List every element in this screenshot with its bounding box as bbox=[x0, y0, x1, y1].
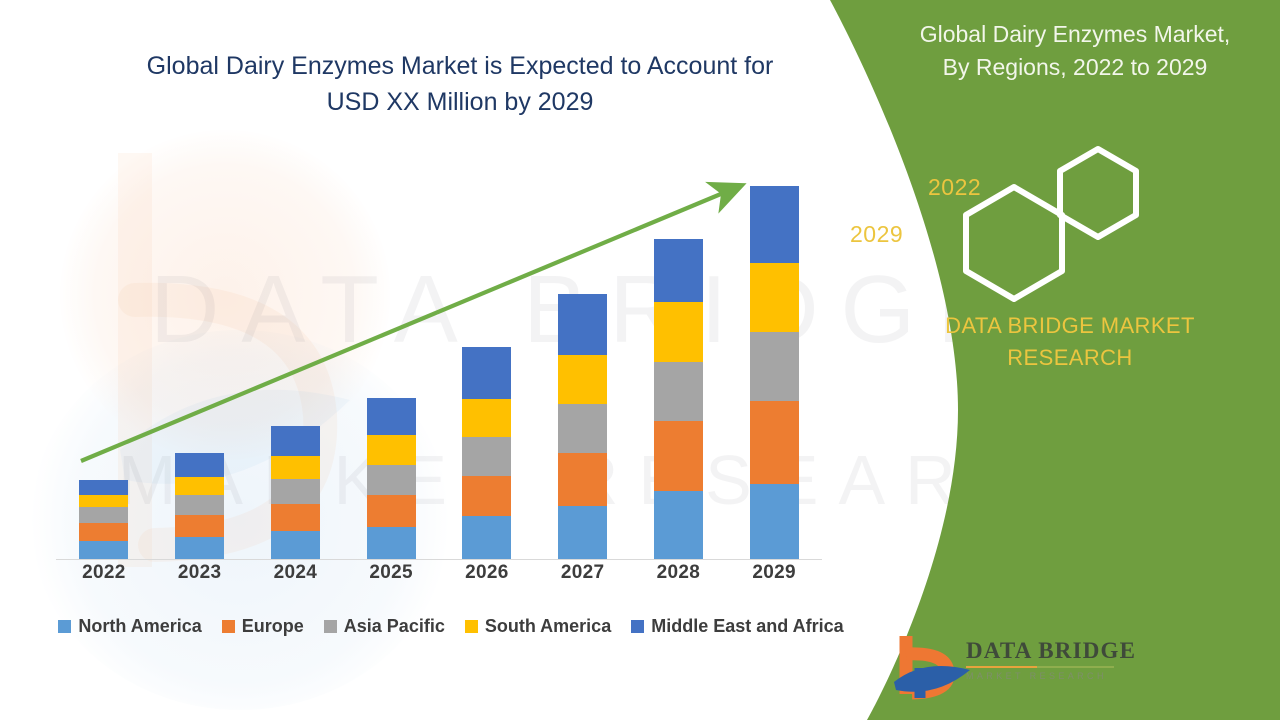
stacked-bars bbox=[56, 160, 822, 559]
stacked-bar-2022[interactable] bbox=[79, 480, 128, 559]
bar-segment[interactable] bbox=[750, 401, 799, 484]
bar-segment[interactable] bbox=[558, 404, 607, 453]
legend-swatch-icon bbox=[58, 620, 71, 633]
x-axis-tick-2027: 2027 bbox=[535, 562, 631, 584]
bar-segment[interactable] bbox=[79, 523, 128, 541]
stacked-bar-2026[interactable] bbox=[462, 347, 511, 559]
bar-segment[interactable] bbox=[367, 527, 416, 559]
bar-segment[interactable] bbox=[462, 516, 511, 559]
stacked-bar-2024[interactable] bbox=[271, 426, 320, 559]
bar-segment[interactable] bbox=[558, 453, 607, 506]
hexagon-badges bbox=[940, 145, 1170, 305]
bar-segment[interactable] bbox=[750, 263, 799, 332]
bar-segment[interactable] bbox=[175, 453, 224, 477]
bar-segment[interactable] bbox=[271, 456, 320, 479]
bar-segment[interactable] bbox=[750, 332, 799, 402]
bar-segment[interactable] bbox=[462, 399, 511, 437]
legend-item[interactable]: Middle East and Africa bbox=[631, 616, 843, 637]
bar-segment[interactable] bbox=[654, 491, 703, 559]
logo-text-block: DATA BRIDGE MARKET RESEARCH bbox=[966, 638, 1116, 681]
legend-label: South America bbox=[485, 616, 611, 637]
bar-segment[interactable] bbox=[79, 495, 128, 507]
chart-title: Global Dairy Enzymes Market is Expected … bbox=[90, 48, 830, 120]
legend-swatch-icon bbox=[465, 620, 478, 633]
bar-segment[interactable] bbox=[367, 495, 416, 527]
brand-name: DATA BRIDGE MARKET RESEARCH bbox=[830, 310, 1280, 374]
bar-segment[interactable] bbox=[558, 355, 607, 405]
panel-title-line-1: Global Dairy Enzymes Market, bbox=[870, 18, 1280, 51]
hex-year-2022-label: 2022 bbox=[928, 174, 981, 201]
bar-group bbox=[56, 160, 152, 559]
bar-group bbox=[439, 160, 535, 559]
hexagon-outline-icons bbox=[940, 145, 1170, 305]
infographic-canvas: DATA BRIDGE MARKET RESEARCH Global Dairy… bbox=[0, 0, 1280, 720]
bar-group bbox=[631, 160, 727, 559]
bar-segment[interactable] bbox=[271, 426, 320, 456]
x-axis-labels: 20222023202420252026202720282029 bbox=[56, 562, 822, 584]
bar-segment[interactable] bbox=[654, 302, 703, 362]
stacked-bar-2027[interactable] bbox=[558, 294, 607, 559]
bar-segment[interactable] bbox=[462, 476, 511, 516]
legend-label: Asia Pacific bbox=[344, 616, 445, 637]
bar-segment[interactable] bbox=[750, 186, 799, 263]
legend-swatch-icon bbox=[222, 620, 235, 633]
stacked-bar-2025[interactable] bbox=[367, 398, 416, 559]
x-axis-tick-2025: 2025 bbox=[343, 562, 439, 584]
bar-segment[interactable] bbox=[558, 506, 607, 559]
bar-segment[interactable] bbox=[462, 347, 511, 400]
bar-group bbox=[726, 160, 822, 559]
x-axis-tick-2028: 2028 bbox=[631, 562, 727, 584]
bar-segment[interactable] bbox=[79, 480, 128, 495]
bar-segment[interactable] bbox=[271, 504, 320, 531]
bar-segment[interactable] bbox=[654, 239, 703, 302]
bar-group bbox=[152, 160, 248, 559]
bar-segment[interactable] bbox=[558, 294, 607, 355]
legend-swatch-icon bbox=[324, 620, 337, 633]
bar-segment[interactable] bbox=[654, 362, 703, 422]
stacked-bar-2023[interactable] bbox=[175, 453, 224, 559]
chart-legend: North AmericaEuropeAsia PacificSouth Ame… bbox=[56, 616, 846, 637]
legend-swatch-icon bbox=[631, 620, 644, 633]
bar-segment[interactable] bbox=[654, 421, 703, 491]
x-axis-tick-2022: 2022 bbox=[56, 562, 152, 584]
x-axis-line bbox=[56, 559, 822, 560]
bar-segment[interactable] bbox=[367, 465, 416, 495]
hex-year-2029-label: 2029 bbox=[850, 221, 903, 248]
bar-group bbox=[343, 160, 439, 559]
bar-segment[interactable] bbox=[175, 495, 224, 515]
panel-title-line-2: By Regions, 2022 to 2029 bbox=[870, 51, 1280, 84]
legend-item[interactable]: Asia Pacific bbox=[324, 616, 445, 637]
stacked-bar-2029[interactable] bbox=[750, 186, 799, 559]
right-green-panel: Global Dairy Enzymes Market, By Regions,… bbox=[830, 0, 1280, 720]
bar-segment[interactable] bbox=[271, 479, 320, 504]
legend-item[interactable]: Europe bbox=[222, 616, 304, 637]
bar-segment[interactable] bbox=[271, 531, 320, 559]
bar-segment[interactable] bbox=[175, 515, 224, 537]
bar-segment[interactable] bbox=[462, 437, 511, 476]
legend-label: North America bbox=[78, 616, 201, 637]
bar-segment[interactable] bbox=[175, 477, 224, 495]
bar-segment[interactable] bbox=[79, 541, 128, 559]
x-axis-tick-2029: 2029 bbox=[726, 562, 822, 584]
bar-segment[interactable] bbox=[367, 398, 416, 435]
x-axis-tick-2026: 2026 bbox=[439, 562, 535, 584]
chart-title-line-2: USD XX Million by 2029 bbox=[90, 84, 830, 120]
bar-segment[interactable] bbox=[367, 435, 416, 465]
brand-line-2: RESEARCH bbox=[860, 342, 1280, 374]
data-bridge-logo: DATA BRIDGE MARKET RESEARCH bbox=[890, 632, 1110, 706]
brand-line-1: DATA BRIDGE MARKET bbox=[860, 310, 1280, 342]
chart-plot-area bbox=[56, 160, 822, 560]
logo-divider bbox=[966, 666, 1114, 668]
bar-segment[interactable] bbox=[79, 507, 128, 523]
legend-label: Europe bbox=[242, 616, 304, 637]
legend-item[interactable]: South America bbox=[465, 616, 611, 637]
logo-name: DATA BRIDGE bbox=[966, 638, 1116, 664]
legend-label: Middle East and Africa bbox=[651, 616, 843, 637]
x-axis-tick-2024: 2024 bbox=[248, 562, 344, 584]
bar-segment[interactable] bbox=[175, 537, 224, 559]
stacked-bar-2028[interactable] bbox=[654, 239, 703, 559]
chart-title-line-1: Global Dairy Enzymes Market is Expected … bbox=[90, 48, 830, 84]
x-axis-tick-2023: 2023 bbox=[152, 562, 248, 584]
bar-segment[interactable] bbox=[750, 484, 799, 559]
panel-title: Global Dairy Enzymes Market, By Regions,… bbox=[830, 18, 1280, 84]
bar-group bbox=[535, 160, 631, 559]
logo-tagline: MARKET RESEARCH bbox=[966, 671, 1116, 681]
bar-group bbox=[248, 160, 344, 559]
legend-item[interactable]: North America bbox=[58, 616, 201, 637]
